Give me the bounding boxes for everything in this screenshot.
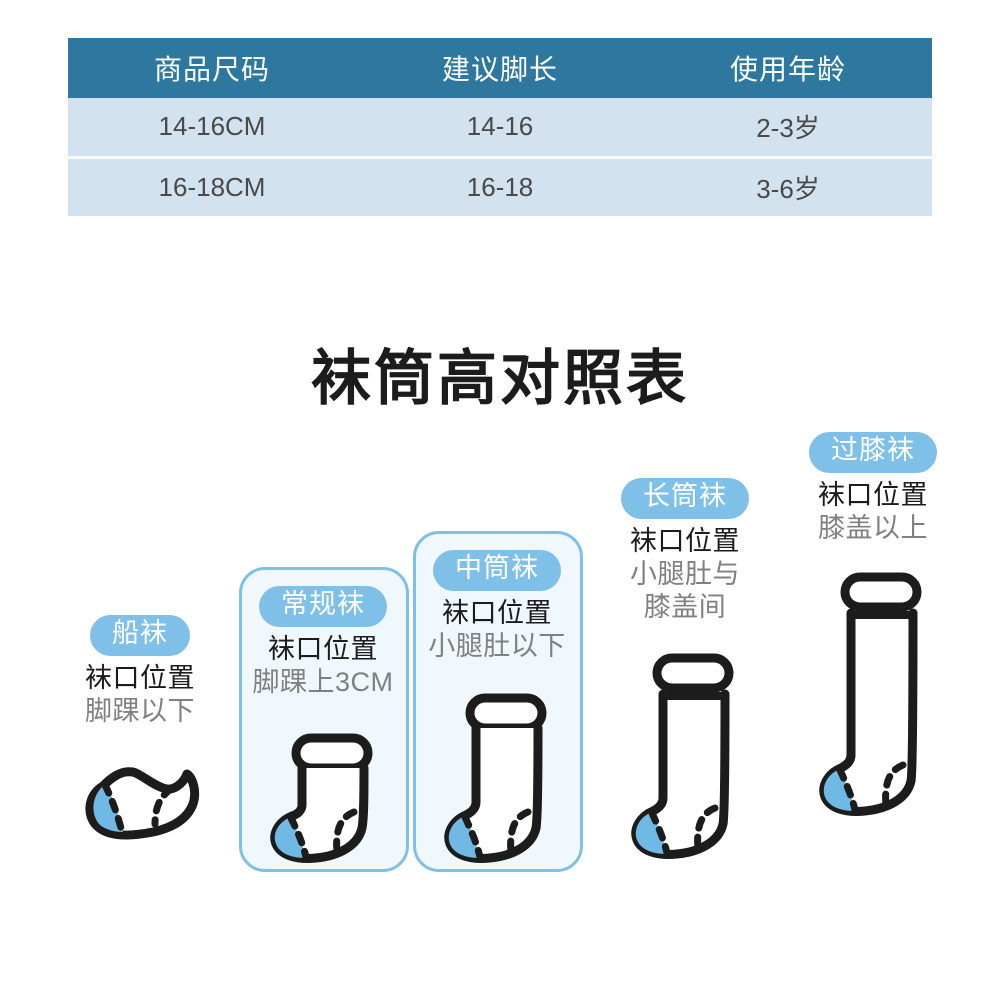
sock-column-kneehigh: 过膝袜 袜口位置 膝盖以上 bbox=[788, 432, 958, 819]
sock-primary-label: 袜口位置 bbox=[788, 479, 958, 512]
column-header-age: 使用年龄 bbox=[644, 38, 932, 98]
sock-badge-midcalf: 中筒袜 bbox=[433, 550, 561, 591]
table-row: 14-16CM 14-16 2-3岁 bbox=[68, 98, 932, 157]
sock-primary-label: 袜口位置 bbox=[55, 662, 225, 695]
table-row: 16-18CM 16-18 3-6岁 bbox=[68, 157, 932, 216]
cell-size: 16-18CM bbox=[68, 157, 356, 216]
cell-foot-length: 16-18 bbox=[356, 157, 644, 216]
column-header-product-size: 商品尺码 bbox=[68, 38, 356, 98]
midcalf-sock-icon bbox=[432, 690, 562, 865]
sock-secondary-label: 小腿肚以下 bbox=[412, 630, 582, 663]
sock-secondary-label: 小腿肚与 bbox=[600, 558, 770, 591]
sock-secondary-label: 脚踝以下 bbox=[55, 695, 225, 728]
sock-height-comparison: 船袜 袜口位置 脚踝以下 常规袜 袜口位置 脚踝上3CM bbox=[0, 410, 1000, 910]
sock-primary-label: 袜口位置 bbox=[600, 525, 770, 558]
sock-illustration-boat bbox=[55, 734, 225, 854]
long-sock-icon bbox=[615, 650, 755, 862]
sock-column-boat: 船袜 袜口位置 脚踝以下 bbox=[55, 615, 225, 854]
sock-badge-boat: 船袜 bbox=[90, 615, 190, 656]
sock-secondary-label: 脚踝上3CM bbox=[238, 666, 408, 699]
sock-column-midcalf: 中筒袜 袜口位置 小腿肚以下 bbox=[412, 550, 582, 865]
sock-secondary-label: 膝盖以上 bbox=[788, 512, 958, 545]
sock-secondary-label-2: 膝盖间 bbox=[600, 591, 770, 624]
cell-age: 2-3岁 bbox=[644, 98, 932, 157]
sock-size-infographic: 商品尺码 建议脚长 使用年龄 14-16CM 14-16 2-3岁 16-18C… bbox=[0, 0, 1000, 1002]
sock-badge-long: 长筒袜 bbox=[621, 478, 749, 519]
sock-primary-label: 袜口位置 bbox=[238, 633, 408, 666]
size-table-head: 商品尺码 建议脚长 使用年龄 bbox=[68, 38, 932, 98]
sock-badge-kneehigh: 过膝袜 bbox=[809, 432, 937, 473]
sock-illustration-long bbox=[600, 630, 770, 862]
cell-size: 14-16CM bbox=[68, 98, 356, 157]
size-table: 商品尺码 建议脚长 使用年龄 14-16CM 14-16 2-3岁 16-18C… bbox=[68, 38, 932, 216]
column-header-foot-length: 建议脚长 bbox=[356, 38, 644, 98]
sock-illustration-regular bbox=[238, 705, 408, 865]
regular-sock-icon bbox=[258, 730, 388, 865]
boat-sock-icon bbox=[75, 744, 205, 854]
sock-column-regular: 常规袜 袜口位置 脚踝上3CM bbox=[238, 586, 408, 865]
size-table-body: 14-16CM 14-16 2-3岁 16-18CM 16-18 3-6岁 bbox=[68, 98, 932, 216]
kneehigh-sock-icon bbox=[803, 569, 943, 819]
sock-illustration-midcalf bbox=[412, 669, 582, 865]
sock-column-long: 长筒袜 袜口位置 小腿肚与 膝盖间 bbox=[600, 478, 770, 862]
sock-illustration-kneehigh bbox=[788, 551, 958, 819]
sock-primary-label: 袜口位置 bbox=[412, 597, 582, 630]
page-title: 袜筒高对照表 bbox=[0, 330, 1000, 417]
table-header-row: 商品尺码 建议脚长 使用年龄 bbox=[68, 38, 932, 98]
cell-foot-length: 14-16 bbox=[356, 98, 644, 157]
sock-badge-regular: 常规袜 bbox=[259, 586, 387, 627]
cell-age: 3-6岁 bbox=[644, 157, 932, 216]
